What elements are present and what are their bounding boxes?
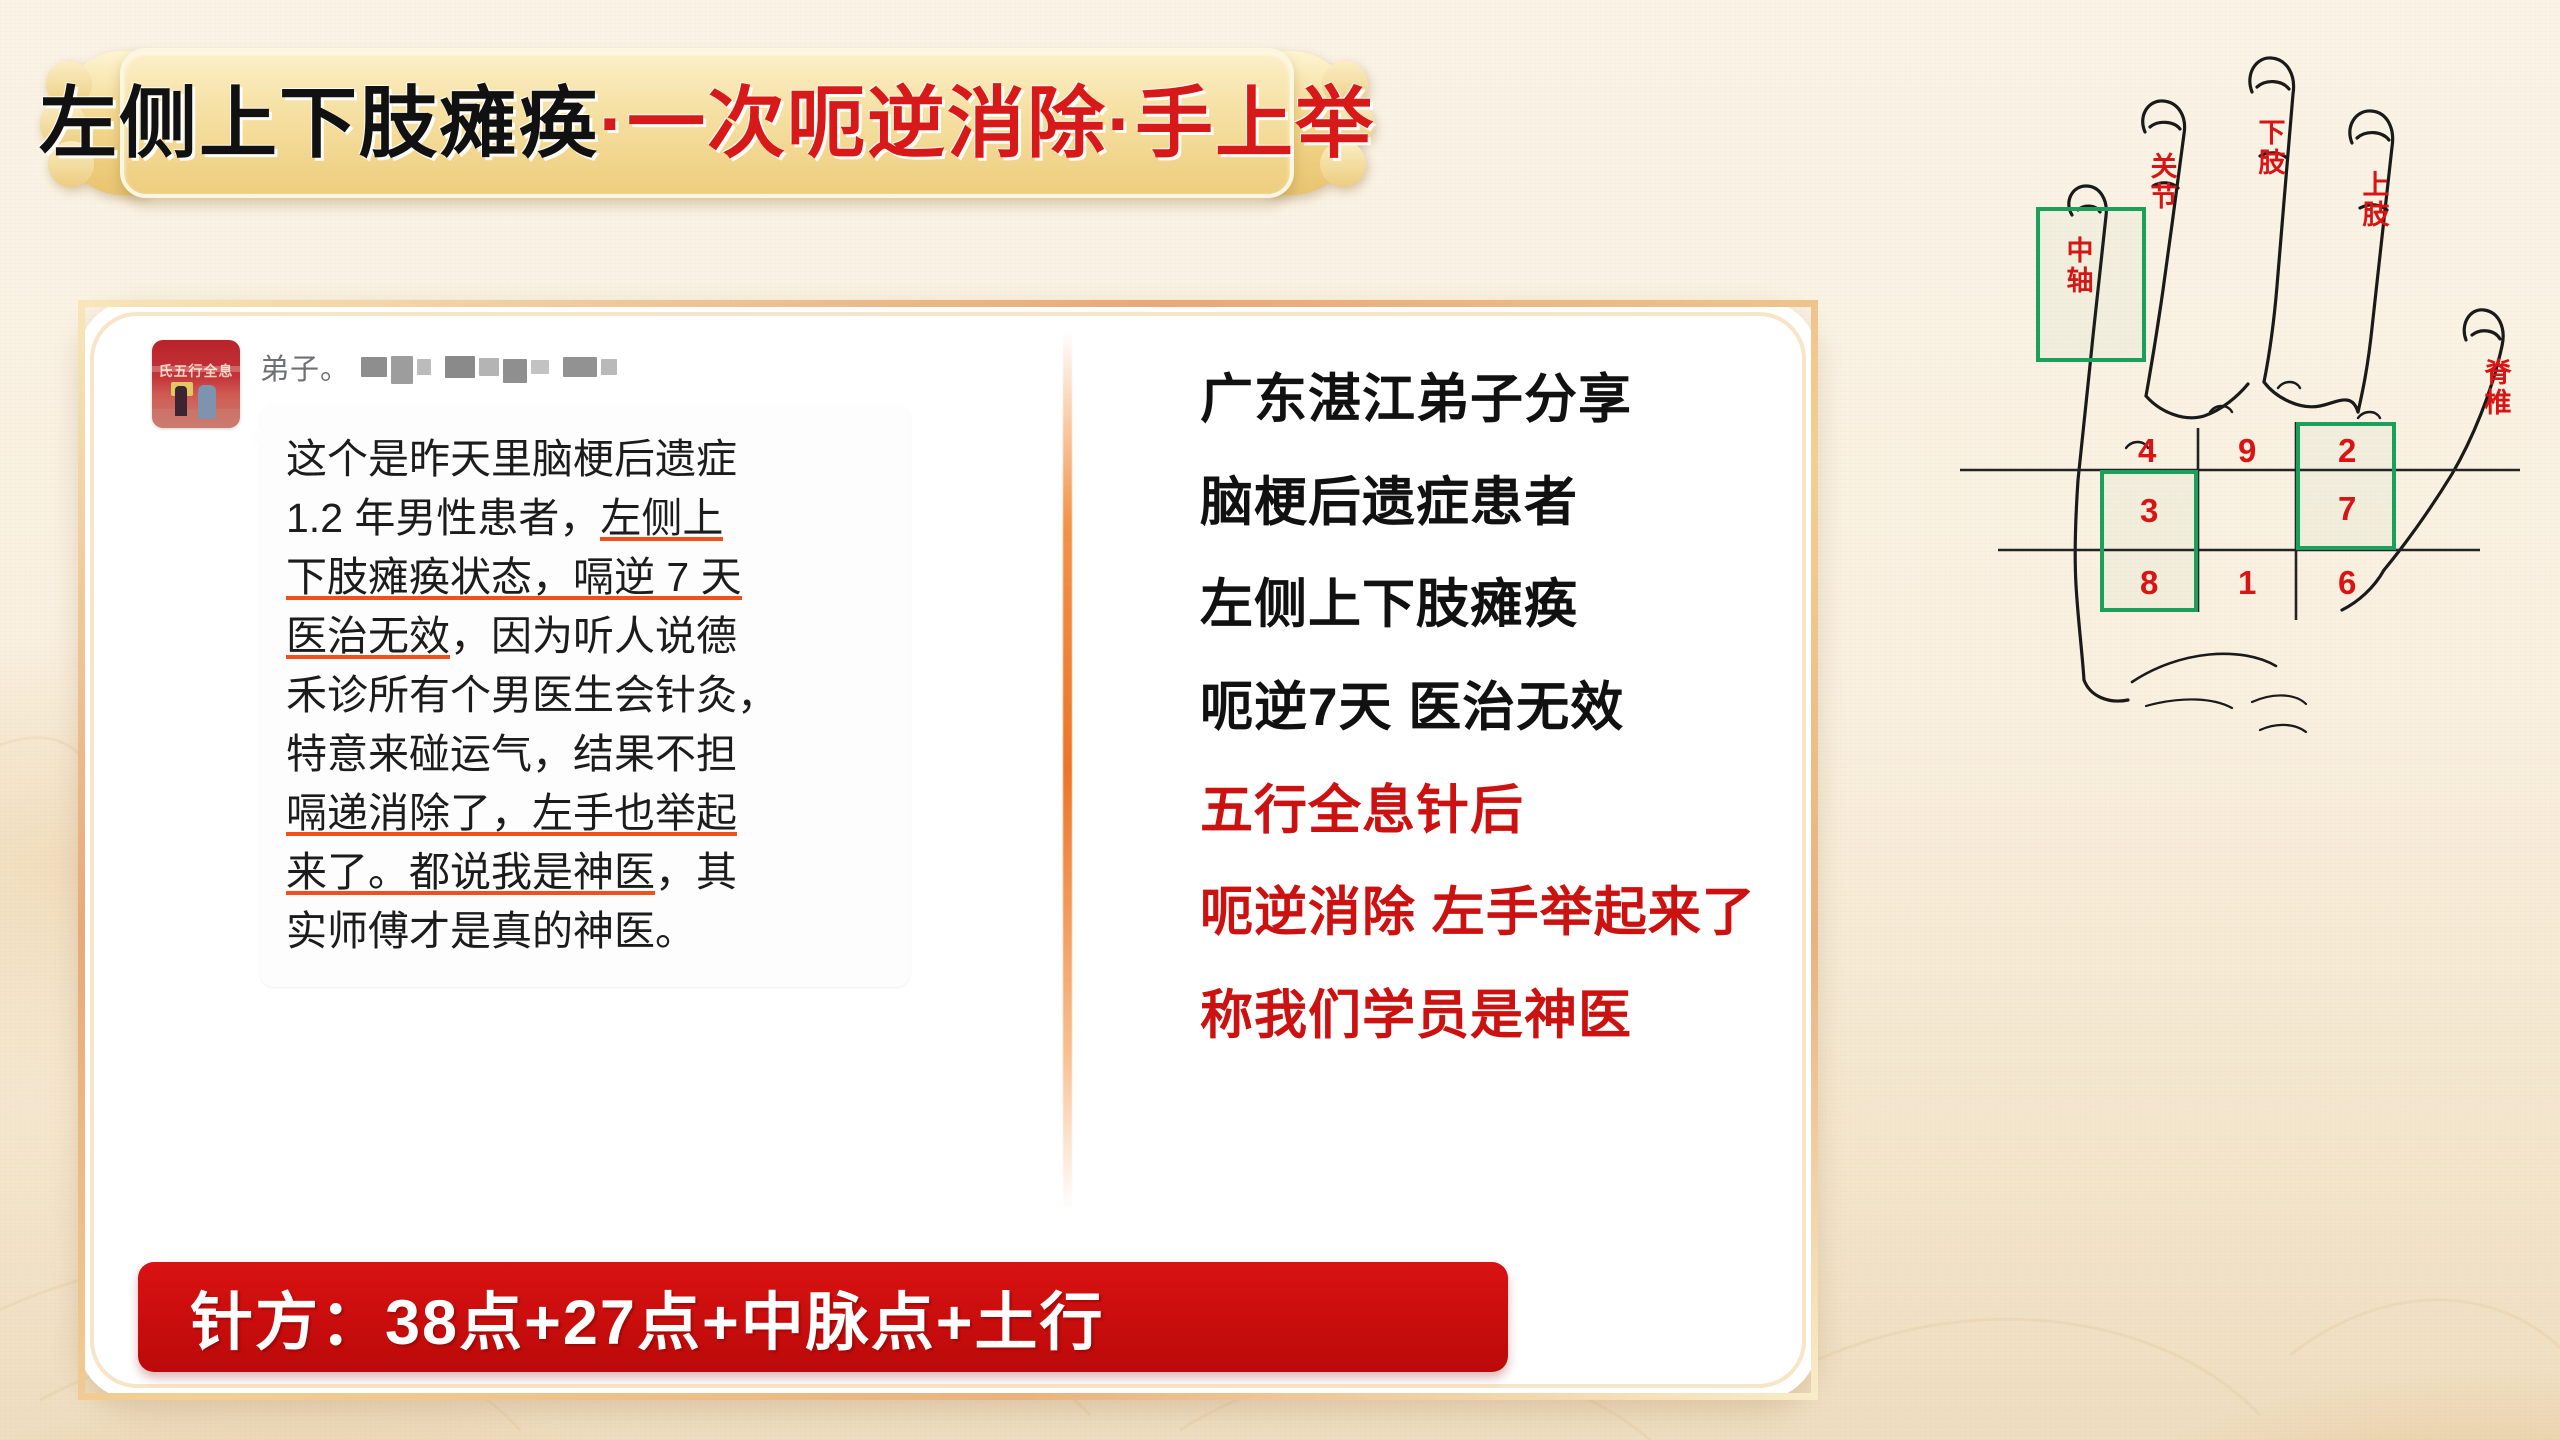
chat-username-text: 弟子。 [260,346,350,388]
hand-zone-number-6: 6 [2338,564,2356,602]
summary-column: 广东湛江弟子分享 脑梗后遗症患者 左侧上下肢瘫痪 呃逆7天 医治无效 五行全息针… [1200,372,1760,1090]
summary-line-4: 五行全息针后 [1200,783,1760,839]
hand-highlight-box-zhongzhou [2036,207,2146,362]
message-line: 嗝递消除了，左手也举起 [286,784,884,843]
summary-line-1: 脑梗后遗症患者 [1200,475,1760,531]
hand-zone-number-8: 8 [2140,564,2158,602]
hand-zone-number-3: 3 [2140,492,2158,530]
redacted-username-mosaic [361,350,617,384]
hand-zone-number-1: 1 [2238,564,2256,602]
message-line: 1.2 年男性患者，左侧上 [286,489,884,548]
page-title: 左侧上下肢瘫痪·一次呃逆消除·手上举 [39,84,1375,162]
summary-line-0: 广东湛江弟子分享 [1200,372,1760,428]
summary-line-3: 呃逆7天 医治无效 [1200,680,1760,736]
message-line: 医治无效，因为听人说德 [286,607,884,666]
banner-body: 左侧上下肢瘫痪·一次呃逆消除·手上举 [120,48,1294,198]
summary-line-6: 称我们学员是神医 [1200,988,1760,1044]
message-line: 这个是昨天里脑梗后遗症 [286,430,884,489]
hand-label-shangzhi: 上肢 [2360,170,2392,230]
hand-zone-number-4: 4 [2138,432,2156,470]
message-line: 下肢瘫痪状态，嗝逆 7 天 [286,548,884,607]
hand-label-jizhui: 脊椎 [2482,358,2514,418]
hand-reflexology-diagram: 中轴 关节 下肢 上肢 脊椎 4 9 2 3 7 8 1 6 [1960,40,2560,800]
message-line: 实师傅才是真的神医。 [286,902,884,961]
hand-label-guanjie: 关节 [2148,152,2180,212]
prescription-label: 针方：38点+27点+中脉点+土行 [190,1272,1105,1363]
chat-message-bubble: 这个是昨天里脑梗后遗症 1.2 年男性患者，左侧上 下肢瘫痪状态，嗝逆 7 天 … [260,404,910,987]
summary-line-5: 呃逆消除 左手举起来了 [1200,885,1760,941]
hand-label-xiazhi: 下肢 [2256,118,2288,178]
summary-line-2: 左侧上下肢瘫痪 [1200,577,1760,633]
message-line: 来了。都说我是神医，其 [286,843,884,902]
title-black-part: 左侧上下肢瘫痪 [39,79,599,167]
prescription-banner: 针方：38点+27点+中脉点+土行 [138,1262,1508,1372]
chat-screenshot-block: 氏五行全息 弟子。 [152,340,982,987]
column-divider [1063,330,1072,1210]
title-red-part: ·一次呃逆消除·手上举 [599,79,1375,167]
hand-zone-number-7: 7 [2338,490,2356,528]
hand-zone-number-2: 2 [2338,432,2356,470]
avatar: 氏五行全息 [152,340,240,428]
chat-username: 弟子。 [260,340,982,388]
hand-zone-number-9: 9 [2238,432,2256,470]
message-line: 特意来碰运气，结果不担 [286,725,884,784]
title-banner: 左侧上下肢瘫痪·一次呃逆消除·手上举 [62,48,1352,198]
message-line: 禾诊所有个男医生会针灸， [286,666,884,725]
